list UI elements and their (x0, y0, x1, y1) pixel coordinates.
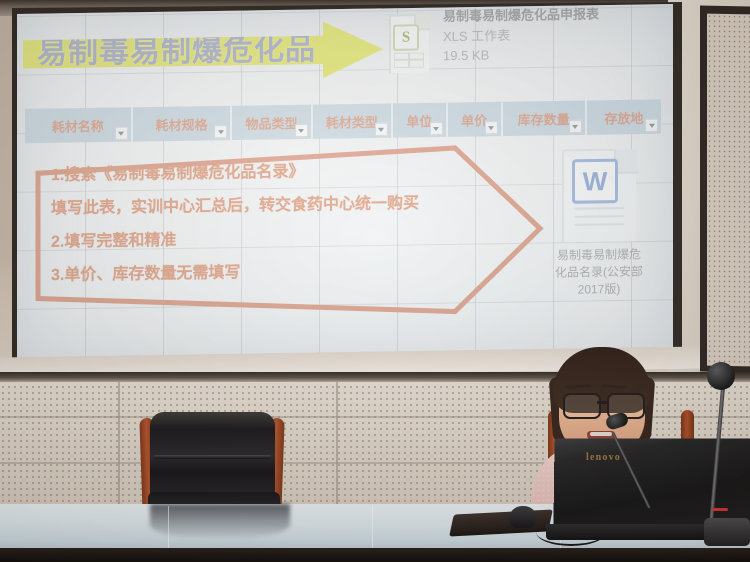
word-file-block: W 易制毒易制爆危化品名录(公安部2017版) (529, 148, 669, 300)
table-header-label: 耗材规格 (156, 114, 208, 134)
computer-mouse[interactable] (509, 506, 537, 528)
excel-file-type: XLS 工作表 (443, 24, 599, 46)
filter-dropdown-icon[interactable] (295, 124, 308, 137)
table-header-label: 耗材名称 (52, 115, 104, 135)
instruction-step-4: 3.单价、库存数量无需填写 (51, 252, 491, 292)
filter-dropdown-icon[interactable] (430, 122, 443, 135)
table-header-cell-3[interactable]: 物品类型 (232, 105, 312, 141)
table-header-label: 存放地 (604, 107, 643, 127)
desk-reflection (150, 504, 290, 538)
lens-left (563, 393, 601, 419)
excel-file-block: S 易制毒易制爆危化品申报表 XLS 工作表 19.5 KB (385, 4, 665, 95)
word-caption-line-2: 化品名录(公安部 (529, 263, 669, 282)
table-header-label: 耗材类型 (326, 111, 378, 131)
table-header-label: 单位 (406, 110, 432, 130)
excel-badge: S (393, 24, 419, 51)
table-header-label: 物品类型 (246, 112, 298, 132)
microphone-base (704, 518, 750, 546)
table-header-cell-5[interactable]: 单位 (393, 103, 448, 138)
acoustic-panel-perforated (707, 14, 750, 367)
desk-front-edge (0, 548, 750, 562)
gooseneck-microphone-head (707, 362, 735, 390)
excel-badge-letter: S (402, 30, 410, 45)
excel-file-size: 19.5 KB (443, 44, 599, 66)
laptop-lid (553, 438, 750, 528)
filter-dropdown-icon[interactable] (569, 120, 582, 133)
word-text-lines (574, 207, 624, 232)
word-file-caption: 易制毒易制爆危化品名录(公安部2017版) (529, 246, 669, 300)
table-header-cell-6[interactable]: 单价 (448, 102, 503, 137)
word-caption-line-3: 2017版) (529, 280, 669, 299)
word-caption-line-1: 易制毒易制爆危 (529, 246, 669, 265)
word-badge-letter: W (583, 168, 608, 195)
table-header-cell-8[interactable]: 存放地 (587, 99, 661, 134)
table-header-cell-7[interactable]: 库存数量 (503, 101, 587, 137)
page-title: 易制毒易制爆危化品 (37, 35, 316, 69)
excel-file-meta: 易制毒易制爆危化品申报表 XLS 工作表 19.5 KB (443, 4, 599, 66)
table-header-label: 库存数量 (518, 108, 570, 128)
excel-table-glyph (394, 52, 424, 68)
empty-chair-seam (154, 455, 271, 459)
filter-dropdown-icon[interactable] (115, 127, 128, 140)
projection-screen: 易制毒易制爆危化品 S 易制毒易制爆危化品申报表 XLS 工作表 19.5 KB (13, 4, 673, 364)
filter-dropdown-icon[interactable] (375, 123, 388, 136)
slide-content: 易制毒易制爆危化品 S 易制毒易制爆危化品申报表 XLS 工作表 19.5 KB (13, 4, 673, 364)
table-header-cell-1[interactable]: 耗材名称 (25, 107, 133, 143)
excel-file-icon: S (385, 12, 433, 75)
filter-dropdown-icon[interactable] (485, 121, 498, 134)
table-header-cell-4[interactable]: 耗材类型 (313, 103, 393, 139)
microphone-led-indicator (712, 508, 728, 511)
eyeglasses (561, 393, 645, 415)
table-header-cell-2[interactable]: 耗材规格 (133, 106, 233, 142)
screenshot-root: 易制毒易制爆危化品 S 易制毒易制爆危化品申报表 XLS 工作表 19.5 KB (0, 0, 750, 562)
instruction-step-list: 1.搜索《易制毒易制爆危化品名录》填写此表，实训中心汇总后，转交食药中心统一购买… (51, 152, 491, 292)
filter-dropdown-icon[interactable] (645, 119, 658, 132)
word-badge: W (572, 159, 618, 204)
table-header-label: 单价 (461, 110, 487, 130)
glasses-bridge (597, 401, 609, 404)
word-file-icon: W (562, 148, 636, 242)
excel-file-name: 易制毒易制爆危化品申报表 (443, 5, 599, 26)
filter-dropdown-icon[interactable] (214, 125, 227, 138)
laptop-brand-label: lenovo (586, 452, 621, 463)
